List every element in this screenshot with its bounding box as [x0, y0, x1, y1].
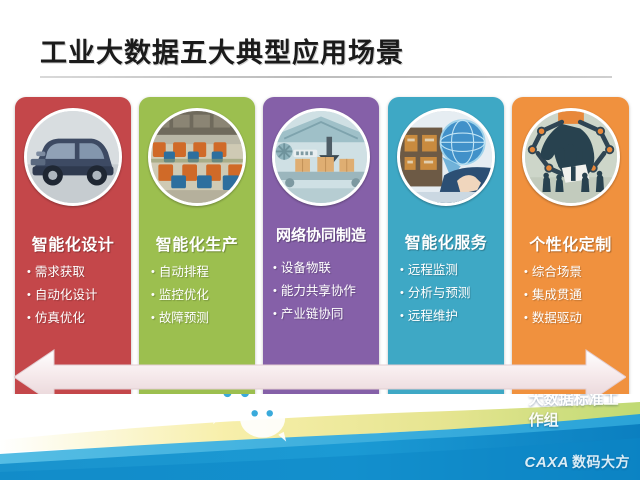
card-bullets: •综合场景 •集成贯通 •数据驱动 — [524, 261, 623, 330]
robot-conveyor-photo — [272, 108, 370, 206]
bullet-text: 远程监测 — [408, 263, 458, 277]
watermark-latin: CAXA — [524, 454, 569, 471]
car-chassis-photo — [24, 108, 122, 206]
card-title: 智能化服务 — [388, 229, 504, 253]
list-item: •远程维护 — [400, 305, 498, 328]
brand-text: 大数据标准工作组 — [529, 394, 632, 430]
list-item: •故障预测 — [151, 307, 249, 330]
list-item: •分析与预测 — [400, 282, 498, 305]
bullet-dot: • — [524, 261, 528, 284]
card-bullets: •需求获取 •自动化设计 •仿真优化 — [27, 261, 125, 330]
card-bullets: •远程监测 •分析与预测 •远程维护 — [400, 259, 498, 328]
custom-hand-photo — [522, 108, 620, 206]
list-item: •远程监测 — [400, 259, 498, 282]
bullet-text: 分析与预测 — [408, 286, 471, 300]
list-item: •综合场景 — [524, 261, 623, 284]
page-title: 工业大数据五大典型应用场景 — [40, 36, 615, 70]
bullet-text: 数据驱动 — [532, 311, 582, 325]
bullet-text: 自动排程 — [159, 265, 209, 279]
card-title: 智能化生产 — [139, 231, 255, 255]
bullet-dot: • — [273, 257, 277, 280]
bullet-text: 需求获取 — [35, 265, 85, 279]
footer-wave: 大数据标准工作组 CAXA 数码大方 — [0, 394, 640, 480]
brand-label: 大数据标准工作组 — [0, 394, 632, 452]
wechat-icon — [0, 394, 523, 452]
title-divider — [40, 76, 612, 78]
slide-canvas: 工业大数据五大典型应用场景 智能化设计 — [0, 0, 640, 480]
bullet-dot: • — [524, 307, 528, 330]
bullet-text: 设备物联 — [281, 261, 331, 275]
caxa-watermark: CAXA 数码大方 — [524, 452, 630, 472]
bullet-dot: • — [27, 307, 31, 330]
bullet-text: 监控优化 — [159, 288, 209, 302]
bullet-dot: • — [151, 261, 155, 284]
bullet-dot: • — [400, 259, 404, 282]
watermark-cn: 数码大方 — [572, 452, 630, 472]
list-item: •能力共享协作 — [273, 280, 373, 303]
card-bullets: •设备物联 •能力共享协作 •产业链协同 — [273, 257, 373, 326]
card-bullets: •自动排程 •监控优化 •故障预测 — [151, 261, 249, 330]
title-block: 工业大数据五大典型应用场景 — [40, 36, 615, 82]
bullet-text: 故障预测 — [159, 311, 209, 325]
list-item: •数据驱动 — [524, 307, 623, 330]
bullet-dot: • — [273, 280, 277, 303]
bullet-dot: • — [524, 284, 528, 307]
bullet-dot: • — [273, 303, 277, 326]
bullet-text: 远程维护 — [408, 309, 458, 323]
bullet-dot: • — [151, 307, 155, 330]
bullet-dot: • — [400, 305, 404, 328]
list-item: •自动排程 — [151, 261, 249, 284]
list-item: •监控优化 — [151, 284, 249, 307]
bullet-text: 综合场景 — [532, 265, 582, 279]
bullet-text: 集成贯通 — [532, 288, 582, 302]
bullet-dot: • — [27, 261, 31, 284]
card-title: 网络协同制造 — [263, 224, 379, 245]
bullet-dot: • — [27, 284, 31, 307]
list-item: •需求获取 — [27, 261, 125, 284]
card-title: 智能化设计 — [15, 231, 131, 255]
bullet-text: 自动化设计 — [35, 288, 98, 302]
list-item: •产业链协同 — [273, 303, 373, 326]
remote-service-photo — [397, 108, 495, 206]
bullet-dot: • — [400, 282, 404, 305]
list-item: •仿真优化 — [27, 307, 125, 330]
bullet-text: 能力共享协作 — [281, 284, 356, 298]
card-title: 个性化定制 — [512, 231, 629, 255]
bullet-dot: • — [151, 284, 155, 307]
list-item: •自动化设计 — [27, 284, 125, 307]
factory-line-photo — [148, 108, 246, 206]
bullet-text: 仿真优化 — [35, 311, 85, 325]
list-item: •集成贯通 — [524, 284, 623, 307]
bullet-text: 产业链协同 — [281, 307, 344, 321]
list-item: •设备物联 — [273, 257, 373, 280]
